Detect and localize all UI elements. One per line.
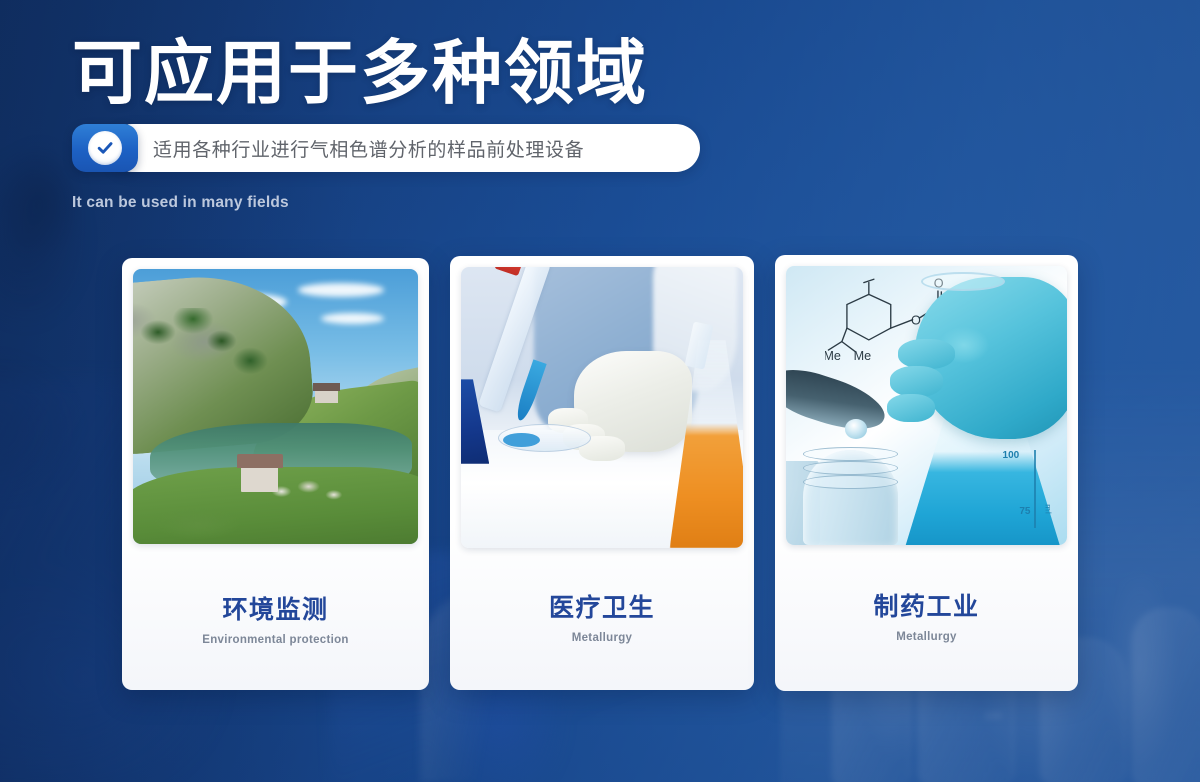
flask-tick-75: 75 [1019, 506, 1030, 517]
card-environmental-protection[interactable]: 环境监测 Environmental protection [122, 258, 429, 690]
chemistry-flask-molecule-photo: O O OH Me Me [786, 266, 1067, 545]
cloud [321, 313, 384, 324]
card-subtitle: Metallurgy [775, 631, 1078, 643]
label-methyl-right: Me [854, 349, 872, 363]
tree-cluster [139, 308, 299, 418]
promo-banner: 200ml 150 100 可应用于多种领域 适用各种行业进行气相色谱分析的样品… [0, 0, 1200, 782]
cloud [298, 283, 384, 297]
card-title: 制药工业 [775, 591, 1078, 623]
card-title: 环境监测 [122, 594, 429, 626]
scattered-rocks [264, 475, 361, 508]
label-methyl-left: Me [825, 349, 841, 363]
glove-finger [890, 366, 943, 397]
application-cards: 环境监测 Environmental protection [0, 0, 1200, 782]
flask-volume-label: ml [1043, 505, 1052, 515]
flask-rim [921, 272, 1005, 292]
glove-finger [887, 394, 935, 422]
laboratory-pipette-petri-dish-photo [461, 267, 743, 548]
card-subtitle: Environmental protection [122, 634, 429, 646]
card-caption: 环境监测 Environmental protection [122, 594, 429, 646]
card-pharmaceutical-industry[interactable]: O O OH Me Me [775, 255, 1078, 691]
blue-sample-droplet [503, 433, 540, 447]
card-medical-health[interactable]: 医疗卫生 Metallurgy [450, 256, 754, 690]
mountain-valley-lake-photo [133, 269, 418, 544]
flask-graduation-scale [1034, 450, 1036, 528]
card-title: 医疗卫生 [450, 592, 754, 624]
card-caption: 制药工业 Metallurgy [775, 591, 1078, 643]
card-caption: 医疗卫生 Metallurgy [450, 592, 754, 644]
glove-finger [898, 339, 954, 370]
distant-cottage [315, 390, 338, 403]
stone-cottage [241, 467, 278, 492]
card-subtitle: Metallurgy [450, 632, 754, 644]
flask-tick-100: 100 [1003, 450, 1020, 461]
